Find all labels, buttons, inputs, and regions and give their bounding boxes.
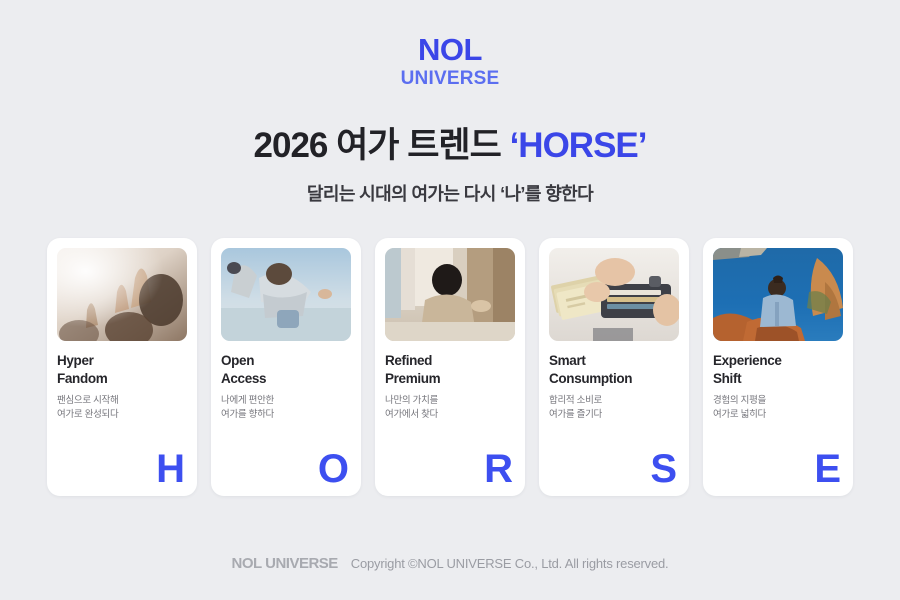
footer-logo: NOL UNIVERSE [232,555,338,572]
page-subtitle: 달리는 시대의 여가는 다시 ‘나’를 향한다 [307,180,593,206]
trend-card-letter: O [318,449,348,489]
page-title-keyword: ‘HORSE’ [510,126,647,165]
trend-card-description: 경험의 지평을 여가로 넓히다 [713,394,843,422]
infographic-page: NOL UNIVERSE 2026 여가 트렌드 ‘HORSE’ 달리는 시대의… [0,0,900,600]
person-sitting-on-cliff-over-sea-photo [713,248,843,341]
trend-card-title: Hyper Fandom [57,352,187,388]
trend-card-list: Hyper Fandom 팬심으로 시작해 여가로 완성되다 H [47,238,853,496]
hand-holding-cash-and-wallet-photo [549,248,679,341]
trend-card-description: 나에게 편안한 여가를 향하다 [221,394,351,422]
trend-card-description: 나만의 가치를 여가에서 찾다 [385,394,515,422]
person-arms-open-by-the-sea-photo [221,248,351,341]
trend-card[interactable]: Hyper Fandom 팬심으로 시작해 여가로 완성되다 H [47,238,197,496]
trend-card-title: Open Access [221,352,351,388]
trend-card[interactable]: Smart Consumption 합리적 소비로 여가를 즐기다 S [539,238,689,496]
page-title: 2026 여가 트렌드 ‘HORSE’ [254,117,647,168]
logo-nol-text: NOL [401,34,500,65]
page-title-prefix: 2026 여가 트렌드 [254,126,510,165]
trend-card[interactable]: Open Access 나에게 편안한 여가를 향하다 O [211,238,361,496]
trend-card-description: 합리적 소비로 여가를 즐기다 [549,394,679,422]
trend-card-letter: S [650,449,676,489]
trend-card-title: Refined Premium [385,352,515,388]
trend-card-letter: R [484,449,512,489]
trend-card[interactable]: Experience Shift 경험의 지평을 여가로 넓히다 E [703,238,853,496]
woman-relaxing-by-hotel-window-photo [385,248,515,341]
trend-card-title: Experience Shift [713,352,843,388]
brand-logo: NOL UNIVERSE [401,34,500,88]
concert-crowd-raised-hands-photo [57,248,187,341]
footer-copyright: Copyright ©NOL UNIVERSE Co., Ltd. All ri… [351,556,669,571]
logo-universe-text: UNIVERSE [401,69,500,88]
page-footer: NOL UNIVERSE Copyright ©NOL UNIVERSE Co.… [0,555,900,572]
trend-card[interactable]: Refined Premium 나만의 가치를 여가에서 찾다 R [375,238,525,496]
trend-card-letter: H [156,449,184,489]
trend-card-letter: E [814,449,840,489]
trend-card-description: 팬심으로 시작해 여가로 완성되다 [57,394,187,422]
trend-card-title: Smart Consumption [549,352,679,388]
